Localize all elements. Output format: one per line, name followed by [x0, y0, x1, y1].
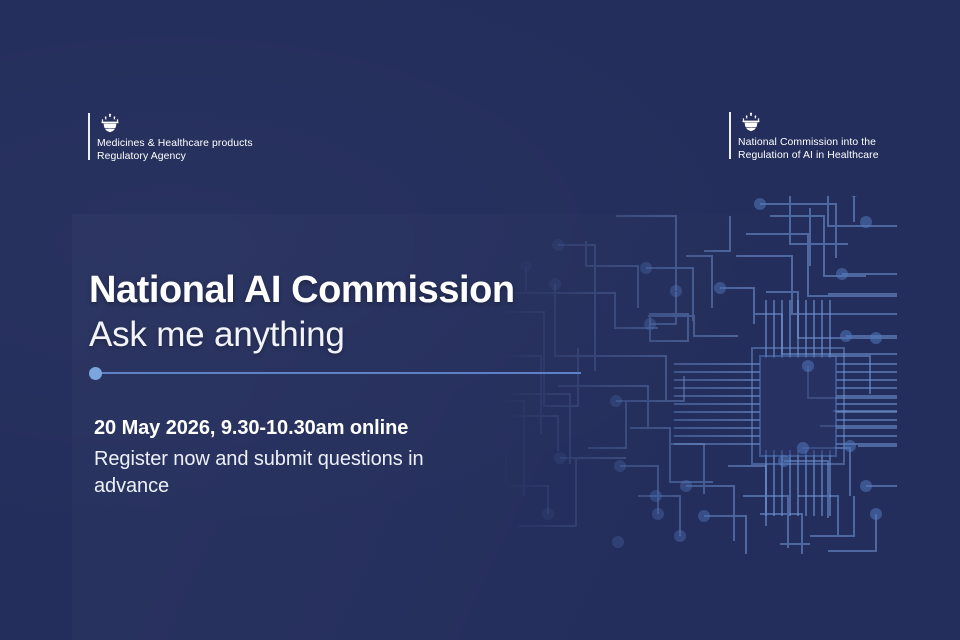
- page-subtitle: Ask me anything: [89, 314, 515, 356]
- page-title: National AI Commission: [89, 269, 515, 311]
- event-cta-text: Register now and submit questions in adv…: [94, 446, 494, 500]
- royal-crest-icon: [99, 113, 121, 133]
- logo-mhra: Medicines & Healthcare products Regulato…: [88, 113, 253, 164]
- connector-line: [96, 372, 581, 374]
- event-datetime: 20 May 2026, 9.30-10.30am online: [94, 414, 494, 442]
- logo-divider-rule: [88, 113, 90, 160]
- royal-crest-icon: [740, 112, 762, 132]
- logo-commission-line1: National Commission into the: [738, 136, 879, 149]
- event-details: 20 May 2026, 9.30-10.30am online Registe…: [94, 414, 494, 500]
- logo-mhra-line2: Regulatory Agency: [97, 150, 253, 163]
- connector-node-dot: [89, 367, 102, 380]
- logo-divider-rule: [729, 112, 731, 159]
- headline-block: National AI Commission Ask me anything: [89, 269, 515, 356]
- logo-mhra-line1: Medicines & Healthcare products: [97, 137, 253, 150]
- event-promo-banner: Medicines & Healthcare products Regulato…: [0, 0, 960, 640]
- logo-national-commission: National Commission into the Regulation …: [729, 112, 879, 163]
- connector-rule: [89, 366, 581, 381]
- logo-commission-line2: Regulation of AI in Healthcare: [738, 149, 879, 162]
